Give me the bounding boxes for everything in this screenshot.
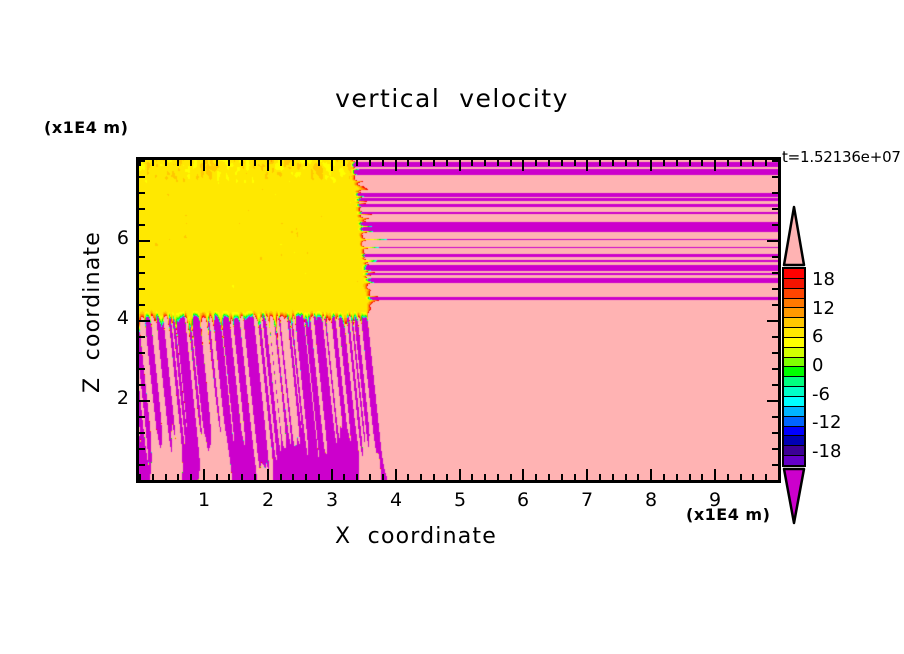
y-axis-units-label: (x1E4 m) <box>44 118 128 137</box>
x-minor-tick <box>241 474 243 480</box>
colorbar-band <box>784 288 804 298</box>
x-minor-tick-top <box>241 160 243 166</box>
colorbar-band <box>784 357 804 367</box>
y-minor-tick-right <box>772 352 778 354</box>
y-minor-tick <box>139 272 145 274</box>
x-major-tick <box>586 469 588 480</box>
x-tick-label: 8 <box>631 489 671 511</box>
y-minor-tick <box>139 416 145 418</box>
colorbar-band <box>784 337 804 347</box>
y-minor-tick <box>139 288 145 290</box>
y-minor-tick <box>139 384 145 386</box>
x-major-tick-top <box>650 160 652 171</box>
y-tick-label: 4 <box>89 307 129 329</box>
x-major-tick-top <box>395 160 397 171</box>
colorbar-tick-label: 18 <box>812 269 835 290</box>
x-minor-tick-top <box>663 160 665 166</box>
colorbar-band <box>784 445 804 455</box>
x-minor-tick <box>663 474 665 480</box>
y-minor-tick-right <box>772 432 778 434</box>
x-minor-tick-top <box>152 160 154 166</box>
x-minor-tick-top <box>177 160 179 166</box>
x-major-tick-top <box>586 160 588 171</box>
x-minor-tick <box>165 474 167 480</box>
x-major-tick <box>714 469 716 480</box>
y-minor-tick <box>139 432 145 434</box>
x-major-tick <box>203 469 205 480</box>
colorbar-band <box>784 406 804 416</box>
y-minor-tick <box>139 480 145 482</box>
colorbar-under-arrow <box>782 467 806 525</box>
x-minor-tick-top <box>612 160 614 166</box>
colorbar-band <box>784 435 804 445</box>
x-minor-tick <box>625 474 627 480</box>
x-minor-tick-top <box>369 160 371 166</box>
y-minor-tick <box>139 368 145 370</box>
colorbar-band <box>784 307 804 317</box>
x-tick-label: 1 <box>184 489 224 511</box>
x-axis-units-label: (x1E4 m) <box>686 505 770 524</box>
x-minor-tick <box>676 474 678 480</box>
colorbar-band <box>784 327 804 337</box>
colorbar-band <box>784 269 804 278</box>
x-major-tick-top <box>522 160 524 171</box>
x-minor-tick <box>152 474 154 480</box>
x-minor-tick <box>318 474 320 480</box>
y-minor-tick-right <box>772 304 778 306</box>
x-minor-tick-top <box>165 160 167 166</box>
x-minor-tick-top <box>548 160 550 166</box>
x-minor-tick <box>446 474 448 480</box>
x-minor-tick-top <box>446 160 448 166</box>
x-minor-tick-top <box>216 160 218 166</box>
colorbar-tick-label: 12 <box>812 298 835 319</box>
y-major-tick <box>139 400 150 402</box>
x-minor-tick-top <box>382 160 384 166</box>
colorbar-tick-label: -6 <box>812 384 830 405</box>
x-major-tick <box>522 469 524 480</box>
y-tick-label: 6 <box>89 227 129 249</box>
x-minor-tick <box>216 474 218 480</box>
x-major-tick <box>650 469 652 480</box>
x-minor-tick <box>190 474 192 480</box>
colorbar-band <box>784 278 804 288</box>
x-minor-tick-top <box>561 160 563 166</box>
colorbar-band <box>784 347 804 357</box>
y-minor-tick <box>139 224 145 226</box>
x-minor-tick <box>765 474 767 480</box>
y-major-tick-right <box>767 400 778 402</box>
colorbar-bands <box>782 267 806 467</box>
x-tick-label: 6 <box>503 489 543 511</box>
x-minor-tick-top <box>228 160 230 166</box>
y-major-tick <box>139 320 150 322</box>
x-major-tick <box>267 469 269 480</box>
x-minor-tick-top <box>765 160 767 166</box>
y-minor-tick-right <box>772 272 778 274</box>
x-minor-tick-top <box>727 160 729 166</box>
x-minor-tick <box>228 474 230 480</box>
x-minor-tick <box>280 474 282 480</box>
x-minor-tick <box>356 474 358 480</box>
colorbar-band <box>784 366 804 376</box>
x-minor-tick <box>420 474 422 480</box>
x-major-tick-top <box>203 160 205 171</box>
x-minor-tick-top <box>433 160 435 166</box>
x-minor-tick-top <box>574 160 576 166</box>
y-major-tick <box>139 240 150 242</box>
y-major-tick-right <box>767 320 778 322</box>
y-minor-tick-right <box>772 368 778 370</box>
x-minor-tick <box>778 474 780 480</box>
x-minor-tick-top <box>701 160 703 166</box>
y-minor-tick-right <box>772 384 778 386</box>
x-minor-tick <box>561 474 563 480</box>
x-minor-tick <box>382 474 384 480</box>
x-minor-tick-top <box>318 160 320 166</box>
x-minor-tick <box>740 474 742 480</box>
x-major-tick-top <box>267 160 269 171</box>
x-minor-tick-top <box>778 160 780 166</box>
y-minor-tick-right <box>772 336 778 338</box>
x-minor-tick <box>305 474 307 480</box>
y-minor-tick <box>139 336 145 338</box>
y-minor-tick <box>139 448 145 450</box>
x-minor-tick <box>574 474 576 480</box>
x-minor-tick <box>292 474 294 480</box>
x-minor-tick-top <box>343 160 345 166</box>
x-minor-tick <box>407 474 409 480</box>
x-minor-tick-top <box>407 160 409 166</box>
x-major-tick-top <box>714 160 716 171</box>
x-minor-tick-top <box>637 160 639 166</box>
x-major-tick <box>459 469 461 480</box>
velocity-field-contours <box>139 160 778 480</box>
plot-area <box>136 157 781 483</box>
x-minor-tick-top <box>599 160 601 166</box>
x-minor-tick-top <box>740 160 742 166</box>
x-minor-tick <box>369 474 371 480</box>
x-minor-tick-top <box>625 160 627 166</box>
x-minor-tick <box>701 474 703 480</box>
colorbar-tick-label: -12 <box>812 412 841 433</box>
y-minor-tick-right <box>772 208 778 210</box>
y-minor-tick-right <box>772 160 778 162</box>
y-minor-tick-right <box>772 448 778 450</box>
y-minor-tick <box>139 256 145 258</box>
x-minor-tick <box>471 474 473 480</box>
x-minor-tick-top <box>356 160 358 166</box>
y-minor-tick <box>139 160 145 162</box>
y-minor-tick-right <box>772 224 778 226</box>
x-minor-tick-top <box>190 160 192 166</box>
colorbar-tick-label: -18 <box>812 441 841 462</box>
x-major-tick <box>331 469 333 480</box>
colorbar: 181260-6-12-18 <box>782 205 806 525</box>
x-minor-tick-top <box>280 160 282 166</box>
x-minor-tick <box>433 474 435 480</box>
x-minor-tick <box>727 474 729 480</box>
colorbar-band <box>784 426 804 436</box>
x-minor-tick <box>599 474 601 480</box>
y-minor-tick <box>139 464 145 466</box>
x-tick-label: 7 <box>567 489 607 511</box>
y-minor-tick <box>139 352 145 354</box>
x-minor-tick-top <box>305 160 307 166</box>
x-major-tick-top <box>331 160 333 171</box>
colorbar-band <box>784 386 804 396</box>
x-minor-tick-top <box>676 160 678 166</box>
y-tick-label: 2 <box>89 387 129 409</box>
x-minor-tick <box>254 474 256 480</box>
x-minor-tick-top <box>497 160 499 166</box>
colorbar-band <box>784 298 804 308</box>
y-minor-tick-right <box>772 288 778 290</box>
y-minor-tick-right <box>772 464 778 466</box>
colorbar-band <box>784 376 804 386</box>
x-minor-tick-top <box>471 160 473 166</box>
x-minor-tick-top <box>752 160 754 166</box>
colorbar-over-arrow <box>782 205 806 267</box>
y-minor-tick-right <box>772 416 778 418</box>
figure-canvas: vertical velocity (x1E4 m) t=1.52136e+07… <box>0 0 904 654</box>
y-minor-tick <box>139 208 145 210</box>
y-minor-tick-right <box>772 176 778 178</box>
x-minor-tick <box>343 474 345 480</box>
x-tick-label: 4 <box>376 489 416 511</box>
time-annotation: t=1.52136e+07 <box>782 148 901 166</box>
x-minor-tick <box>497 474 499 480</box>
x-minor-tick-top <box>420 160 422 166</box>
x-minor-tick-top <box>292 160 294 166</box>
x-minor-tick-top <box>535 160 537 166</box>
x-major-tick-top <box>459 160 461 171</box>
y-major-tick-right <box>767 240 778 242</box>
y-minor-tick <box>139 176 145 178</box>
x-minor-tick <box>177 474 179 480</box>
colorbar-band <box>784 416 804 426</box>
colorbar-tick-label: 6 <box>812 326 823 347</box>
colorbar-band <box>784 455 804 465</box>
x-minor-tick-top <box>484 160 486 166</box>
colorbar-band <box>784 317 804 327</box>
x-minor-tick <box>612 474 614 480</box>
x-minor-tick <box>689 474 691 480</box>
y-minor-tick <box>139 304 145 306</box>
x-minor-tick <box>510 474 512 480</box>
x-tick-label: 3 <box>312 489 352 511</box>
colorbar-band <box>784 396 804 406</box>
y-minor-tick-right <box>772 480 778 482</box>
x-tick-label: 2 <box>248 489 288 511</box>
y-minor-tick <box>139 192 145 194</box>
x-minor-tick <box>484 474 486 480</box>
x-major-tick <box>395 469 397 480</box>
x-minor-tick-top <box>689 160 691 166</box>
x-axis-title: X coordinate <box>335 524 497 549</box>
x-minor-tick <box>637 474 639 480</box>
x-minor-tick <box>752 474 754 480</box>
x-minor-tick <box>548 474 550 480</box>
chart-title: vertical velocity <box>0 84 904 113</box>
colorbar-tick-label: 0 <box>812 355 823 376</box>
x-minor-tick <box>535 474 537 480</box>
y-minor-tick-right <box>772 192 778 194</box>
y-minor-tick-right <box>772 256 778 258</box>
x-minor-tick-top <box>254 160 256 166</box>
x-minor-tick-top <box>510 160 512 166</box>
x-tick-label: 5 <box>440 489 480 511</box>
